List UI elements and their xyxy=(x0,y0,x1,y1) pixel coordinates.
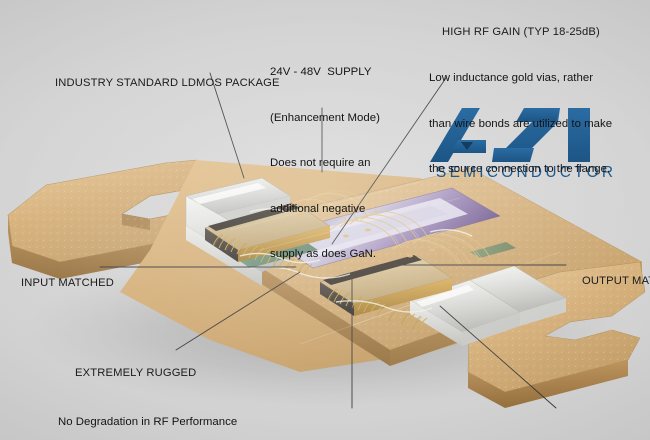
callout-supply-line1: 24V - 48V SUPPLY xyxy=(270,65,380,80)
callout-ldmos-package-label: INDUSTRY STANDARD LDMOS PACKAGE xyxy=(55,77,280,89)
callout-input-matched-label: INPUT MATCHED xyxy=(21,277,114,289)
callout-output-matched-label: OUTPUT MATCHED xyxy=(582,275,650,287)
callout-output-matched: OUTPUT MATCHED xyxy=(569,259,650,303)
callout-supply-line5: supply as does GaN. xyxy=(270,247,380,262)
callout-gold-vias: Low inductance gold vias, rather than wi… xyxy=(429,41,612,208)
callout-parasitic-bipolar: ELIMINATED PARASITIC BIPOLAR xyxy=(265,425,462,440)
callout-supply-line3: Does not require an xyxy=(270,156,380,171)
callout-gold-vias-line2: than wire bonds are utilized to make xyxy=(429,117,612,132)
callout-rugged-detail: No Degradation in RF Performance and <1%… xyxy=(58,385,238,440)
callout-rf-gain-label: HIGH RF GAIN (TYP 18-25dB) xyxy=(442,26,600,38)
callout-ldmos-package: INDUSTRY STANDARD LDMOS PACKAGE xyxy=(42,61,280,105)
callout-extremely-rugged-label: EXTREMELY RUGGED xyxy=(75,367,196,379)
callout-supply-line2: (Enhancement Mode) xyxy=(270,111,380,126)
callout-input-matched: INPUT MATCHED xyxy=(8,261,114,305)
callout-rugged-detail-line1: No Degradation in RF Performance xyxy=(58,415,238,430)
callout-supply-line4: additional negative xyxy=(270,202,380,217)
callout-supply: 24V - 48V SUPPLY (Enhancement Mode) Does… xyxy=(270,35,380,293)
callout-gold-vias-line3: the source connection to the flange. xyxy=(429,162,612,177)
callout-gold-vias-line1: Low inductance gold vias, rather xyxy=(429,71,612,86)
diagram-canvas: SEMICONDUCTOR INDUSTRY STANDARD LDMOS PA… xyxy=(0,0,650,440)
callout-thermal-design: SUPERIOR THERMAL DESIGN xyxy=(476,425,650,440)
